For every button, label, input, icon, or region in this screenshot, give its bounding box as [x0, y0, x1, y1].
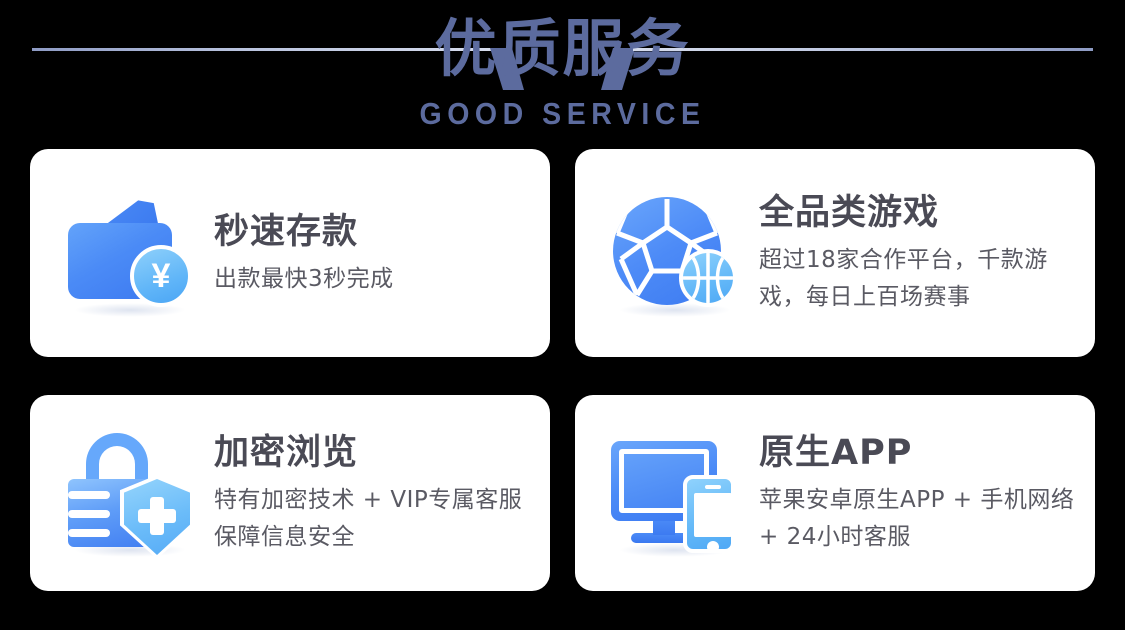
card-title: 原生APP [759, 430, 1075, 476]
page-subtitle: GOOD SERVICE [45, 96, 1080, 132]
monitor-stand-icon [653, 519, 675, 535]
lock-stripe-icon [68, 491, 110, 499]
feature-card-deposit[interactable]: ¥ 秒速存款 出款最快3秒完成 [30, 149, 550, 357]
smartphone-icon [683, 475, 735, 553]
card-text-block: 秒速存款 出款最快3秒完成 [214, 209, 530, 298]
page-header: 优质服务 GOOD SERVICE [0, 0, 1125, 145]
card-title: 秒速存款 [214, 209, 530, 255]
feature-card-encryption[interactable]: 加密浏览 特有加密技术 + VIP专属客服保障信息安全 [30, 395, 550, 591]
cross-icon [138, 509, 176, 523]
basketball-icon [679, 249, 737, 307]
card-description: 出款最快3秒完成 [214, 261, 530, 298]
lock-stripe-icon [68, 529, 110, 537]
feature-card-games[interactable]: 全品类游戏 超过18家合作平台，千款游戏，每日上百场赛事 [575, 149, 1095, 357]
page-title: 优质服务 [0, 6, 1125, 92]
card-description: 特有加密技术 + VIP专属客服保障信息安全 [214, 482, 530, 556]
soccer-basketball-icon [605, 183, 745, 323]
card-text-block: 原生APP 苹果安卓原生APP + 手机网络 + 24小时客服 [759, 430, 1075, 556]
lock-shield-icon [60, 423, 200, 563]
phone-speaker-icon [705, 485, 721, 489]
feature-card-grid: ¥ 秒速存款 出款最快3秒完成 [30, 149, 1095, 591]
card-description: 超过18家合作平台，千款游戏，每日上百场赛事 [759, 242, 1075, 316]
phone-screen-icon [694, 493, 732, 537]
wallet-yen-icon: ¥ [60, 183, 200, 323]
monitor-phone-icon [605, 423, 745, 563]
card-title: 全品类游戏 [759, 190, 1075, 236]
lock-stripe-icon [68, 510, 110, 518]
card-text-block: 全品类游戏 超过18家合作平台，千款游戏，每日上百场赛事 [759, 190, 1075, 316]
feature-card-native-app[interactable]: 原生APP 苹果安卓原生APP + 手机网络 + 24小时客服 [575, 395, 1095, 591]
card-description: 苹果安卓原生APP + 手机网络 + 24小时客服 [759, 482, 1075, 556]
card-text-block: 加密浏览 特有加密技术 + VIP专属客服保障信息安全 [214, 430, 530, 556]
yen-coin-icon: ¥ [130, 245, 192, 307]
phone-home-button-icon [707, 541, 719, 553]
card-title: 加密浏览 [214, 430, 530, 476]
